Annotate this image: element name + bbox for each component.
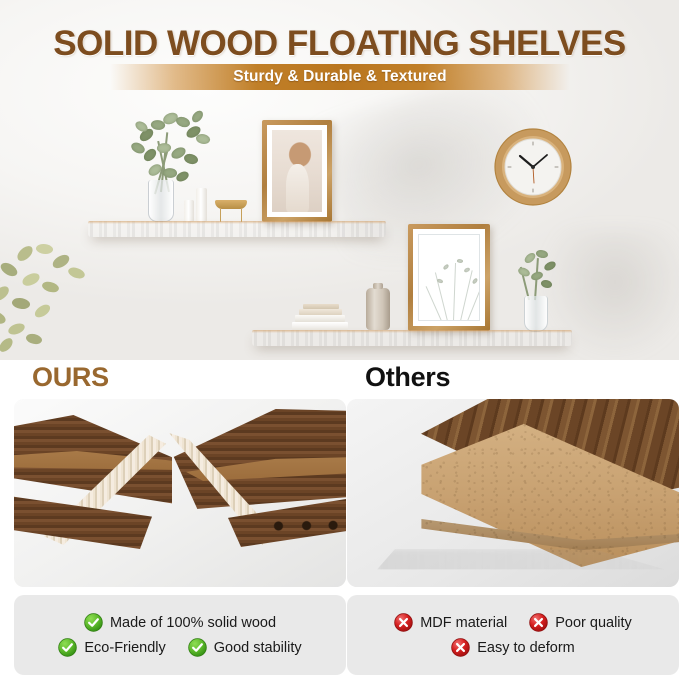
subtitle-text: Sturdy & Durable & Textured [233,68,446,86]
green-check-icon [84,613,103,632]
comparison-section: OURS [0,360,679,664]
feature-item: Poor quality [529,613,632,632]
feature-label: MDF material [420,615,507,631]
red-x-icon [451,638,470,657]
others-feature-panel: MDF material Poor quality [347,595,679,675]
feature-item: Made of 100% solid wood [84,613,276,632]
page-title: SOLID WOOD FLOATING SHELVES [0,24,679,64]
green-check-icon [188,638,207,657]
feature-row: Easy to deform [451,638,575,657]
feature-item: MDF material [394,613,507,632]
gold-decor-stand [215,200,247,222]
white-candle-short [184,200,194,222]
red-x-icon [394,613,413,632]
comparison-column-others: Others [347,360,679,664]
feature-row: Eco-Friendly Good stability [58,638,301,657]
feature-item: Easy to deform [451,638,575,657]
stacked-books [292,304,348,330]
others-label: Others [365,360,679,391]
foreground-olive-plant [0,242,102,360]
others-photo [347,399,679,587]
glass-vase-top-shelf [148,180,174,222]
product-infographic: SOLID WOOD FLOATING SHELVES Sturdy & Dur… [0,0,679,664]
floating-shelf-upper [88,221,386,237]
keyhole-slots [266,517,344,535]
feature-label: Good stability [214,640,302,656]
green-check-icon [58,638,77,657]
subtitle-banner: Sturdy & Durable & Textured [110,64,570,90]
feature-label: Poor quality [555,615,632,631]
white-candle-tall [196,188,207,222]
ours-feature-panel: Made of 100% solid wood Eco-Friendly [14,595,346,675]
feature-label: Made of 100% solid wood [110,615,276,631]
wooden-wall-clock [494,128,572,206]
feature-label: Easy to deform [477,640,575,656]
feature-row: MDF material Poor quality [394,613,632,632]
wooden-photo-frame [262,120,332,222]
feature-row: Made of 100% solid wood [84,613,276,632]
ours-label: OURS [32,360,346,391]
glass-vase-lower-shelf [524,296,548,332]
feature-item: Good stability [188,638,302,657]
botanical-print-frame [408,224,490,331]
feature-label: Eco-Friendly [84,640,165,656]
floating-shelf-lower [252,330,572,346]
comparison-column-ours: OURS [14,360,346,664]
feature-item: Eco-Friendly [58,638,165,657]
ceramic-jar [366,288,390,330]
hero-section: SOLID WOOD FLOATING SHELVES Sturdy & Dur… [0,0,679,360]
ours-photo [14,399,346,587]
red-x-icon [529,613,548,632]
botanical-print [418,234,480,321]
